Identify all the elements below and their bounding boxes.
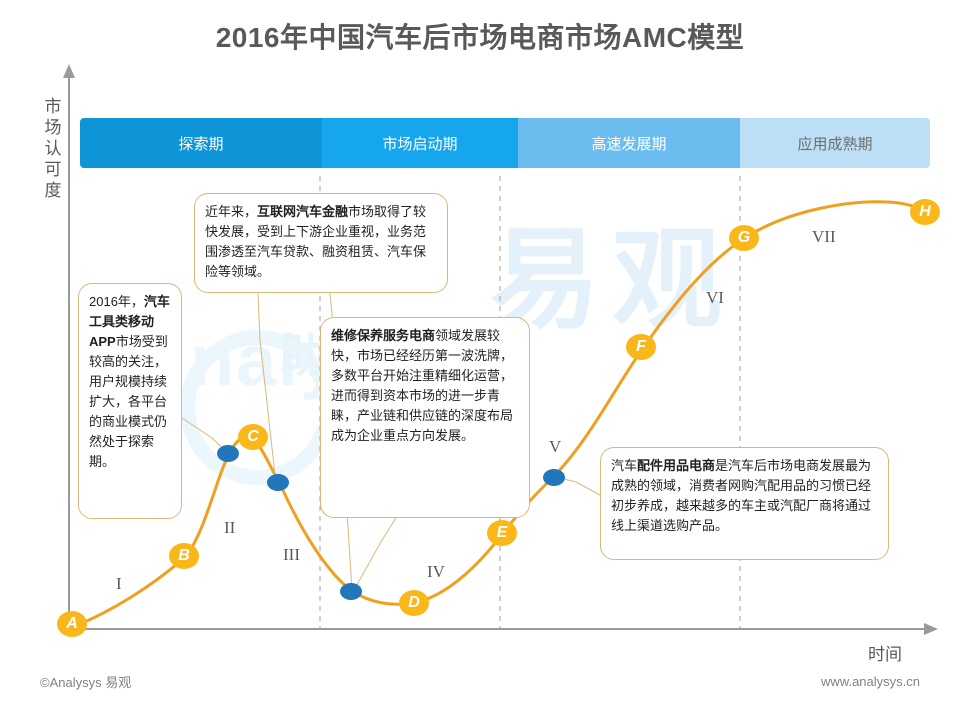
curve-marker-d[interactable]: D <box>399 590 429 616</box>
curve-anchor-dot <box>340 583 362 600</box>
callout-highlight-text: 配件用品电商 <box>637 458 715 473</box>
curve-anchor-dot <box>217 445 239 462</box>
callout-highlight-text: 互联网汽车金融 <box>257 204 348 219</box>
curve-marker-a[interactable]: A <box>57 611 87 637</box>
callout-text: 汽车 <box>611 458 637 473</box>
curve-anchor-dot <box>543 469 565 486</box>
curve-anchor-dot <box>267 474 289 491</box>
curve-marker-label: C <box>247 428 259 446</box>
curve-marker-label: A <box>66 615 78 633</box>
amc-model-chart: 2016年中国汽车后市场电商市场AMC模型 nalysys 易观 助产成长 市场… <box>0 0 960 720</box>
callout-text: 领域发展较快，市场已经经历第一波洗牌，多数平台开始注重精细化运营，进而得到资本市… <box>331 328 513 443</box>
curve-marker-g[interactable]: G <box>729 225 759 251</box>
callout-mobile-app[interactable]: 2016年，汽车工具类移动APP市场受到较高的关注，用户规模持续扩大，各平台的商… <box>78 283 182 519</box>
curve-marker-b[interactable]: B <box>169 543 199 569</box>
curve-marker-label: B <box>178 547 190 565</box>
callout-maintenance[interactable]: 维修保养服务电商领域发展较快，市场已经经历第一波洗牌，多数平台开始注重精细化运营… <box>320 317 530 518</box>
curve-marker-c[interactable]: C <box>238 424 268 450</box>
callout-text: 2016年， <box>89 294 144 309</box>
curve-marker-f[interactable]: F <box>626 334 656 360</box>
curve-marker-h[interactable]: H <box>910 199 940 225</box>
callout-auto-finance[interactable]: 近年来，互联网汽车金融市场取得了较快发展，受到上下游企业重视，业务范围渗透至汽车… <box>194 193 448 293</box>
callout-parts[interactable]: 汽车配件用品电商是汽车后市场电商发展最为成熟的领域，消费者网购汽配用品的习惯已经… <box>600 447 889 560</box>
curve-marker-label: H <box>919 203 931 221</box>
callout-highlight-text: 维修保养服务电商 <box>331 328 435 343</box>
curve-marker-label: D <box>408 594 420 612</box>
callout-text: 近年来， <box>205 204 257 219</box>
curve-marker-label: F <box>636 338 646 356</box>
curve-marker-label: E <box>497 524 508 542</box>
callout-text: 用户规模持续扩大，各平台的商业模式仍然处于探索期。 <box>89 374 167 469</box>
curve-marker-e[interactable]: E <box>487 520 517 546</box>
curve-marker-label: G <box>738 229 750 247</box>
